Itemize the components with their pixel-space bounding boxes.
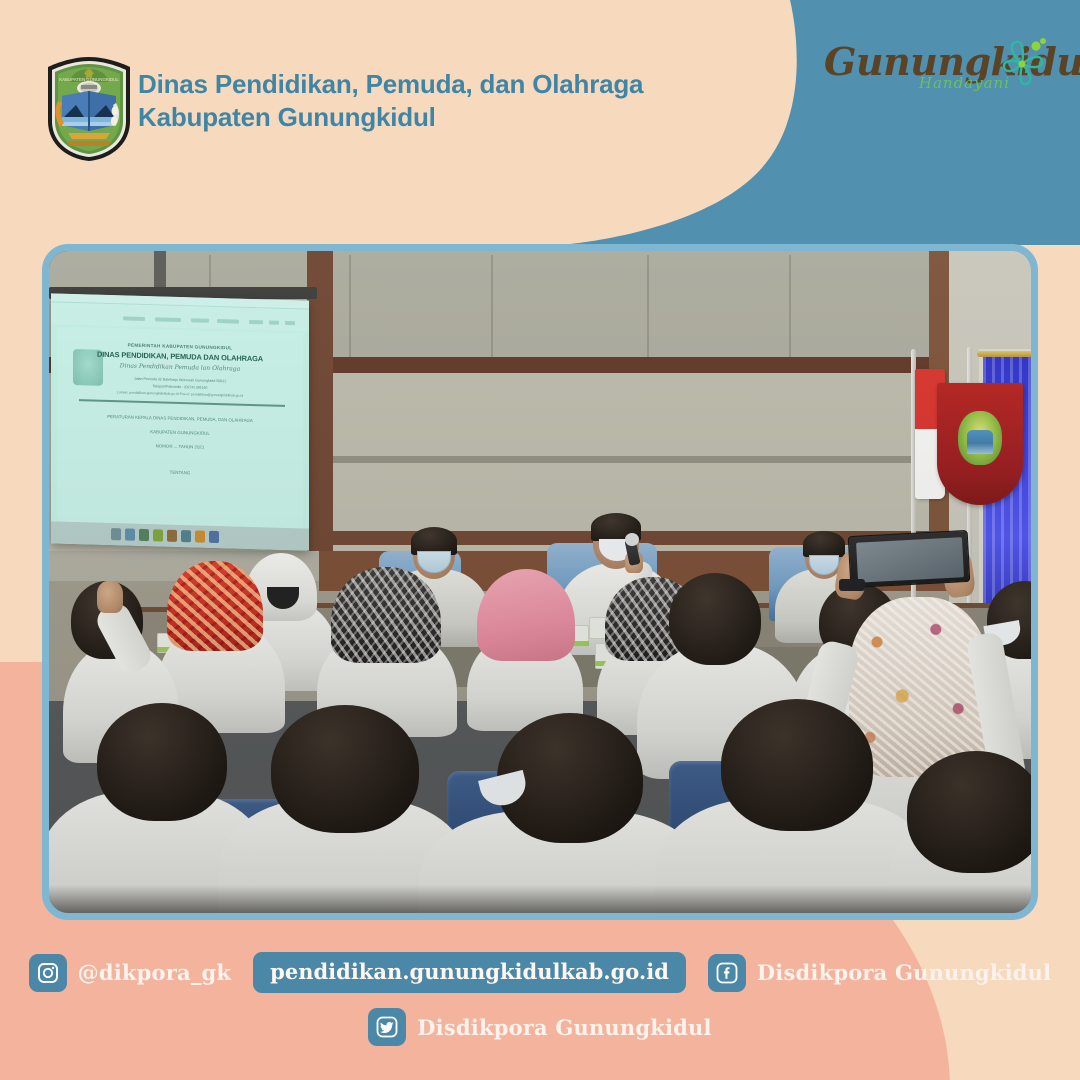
regency-banner — [937, 383, 1023, 505]
svg-text:KABUPATEN GUNUNGKIDUL: KABUPATEN GUNUNGKIDUL — [59, 77, 119, 82]
twitter-item[interactable]: Disdikpora Gunungkidul — [368, 1008, 711, 1046]
wristwatch — [839, 579, 865, 591]
department-title-line1: Dinas Pendidikan, Pemuda, dan Olahraga — [138, 69, 643, 99]
doc-body-line1: PERATURAN KEPALA DINAS PENDIDIKAN, PEMUD… — [57, 413, 303, 425]
twitter-handle[interactable]: Disdikpora Gunungkidul — [417, 1015, 711, 1040]
instagram-icon[interactable] — [29, 954, 67, 992]
department-title-line2: Kabupaten Gunungkidul — [138, 101, 643, 134]
dragonfly-flourish-icon — [992, 34, 1050, 92]
meeting-room-photo: PEMERINTAH KABUPATEN GUNUNGKIDUL DINAS P… — [49, 251, 1031, 913]
facebook-icon[interactable] — [708, 954, 746, 992]
projector-screen: PEMERINTAH KABUPATEN GUNUNGKIDUL DINAS P… — [51, 293, 309, 550]
page-header: KABUPATEN GUNUNGKIDUL Dinas Pendidikan, … — [0, 0, 1080, 200]
website-url-badge[interactable]: pendidikan.gunungkidulkab.go.id — [253, 952, 686, 993]
gunungkidul-brand-logo: Gunungkidul Handayani — [824, 42, 1054, 122]
instagram-handle[interactable]: @dikpora_gk — [78, 960, 232, 985]
social-footer: @dikpora_gk pendidikan.gunungkidulkab.go… — [0, 930, 1080, 1080]
wall-rail — [329, 456, 949, 463]
doc-body-line2: KABUPATEN GUNUNGKIDUL — [57, 427, 303, 439]
doc-divider — [79, 399, 285, 407]
projector-screen-mount — [154, 251, 166, 291]
social-row-secondary: Disdikpora Gunungkidul — [0, 1008, 1080, 1046]
doc-body-line4: TENTANG — [57, 467, 303, 479]
foreground-shadow — [49, 885, 1031, 913]
projected-document: PEMERINTAH KABUPATEN GUNUNGKIDUL DINAS P… — [57, 327, 303, 529]
banner-crest-icon — [958, 411, 1002, 465]
regency-crest-icon: KABUPATEN GUNUNGKIDUL — [44, 55, 134, 163]
doc-body-line3: NOMOR ... TAHUN 2021 — [57, 441, 303, 453]
facebook-item[interactable]: Disdikpora Gunungkidul — [708, 954, 1051, 992]
instagram-item[interactable]: @dikpora_gk — [29, 954, 232, 992]
facebook-handle[interactable]: Disdikpora Gunungkidul — [757, 960, 1051, 985]
department-title: Dinas Pendidikan, Pemuda, dan Olahraga K… — [138, 68, 643, 134]
event-photo-card: PEMERINTAH KABUPATEN GUNUNGKIDUL DINAS P… — [42, 244, 1038, 920]
twitter-icon[interactable] — [368, 1008, 406, 1046]
social-row-primary: @dikpora_gk pendidikan.gunungkidulkab.go… — [0, 952, 1080, 993]
smartphone — [848, 530, 971, 588]
